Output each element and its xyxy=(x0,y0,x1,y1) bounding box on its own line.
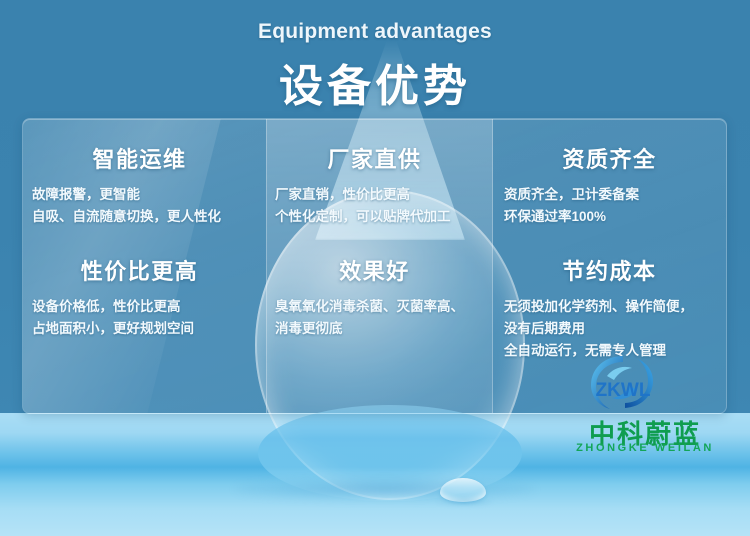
feature-block-cost-saving: 节约成本 无须投加化学药剂、操作简便， 没有后期费用 全自动运行，无需专人管理 xyxy=(492,254,727,362)
company-logo: ZKWL 中科蔚蓝 ZHONGKE WEILAN xyxy=(545,352,745,457)
feature-title: 智能运维 xyxy=(22,142,257,174)
feature-body: 故障报警，更智能 自吸、自流随意切换，更人性化 xyxy=(22,184,257,228)
zkwl-swirl-icon: ZKWL xyxy=(587,352,659,414)
feature-body: 臭氧氧化消毒杀菌、灭菌率高、 消毒更彻底 xyxy=(257,296,492,340)
feature-body: 资质齐全，卫计委备案 环保通过率100% xyxy=(492,184,727,228)
feature-line: 设备价格低，性价比更高 xyxy=(32,296,257,318)
svg-text:ZKWL: ZKWL xyxy=(596,380,651,401)
feature-line: 故障报警，更智能 xyxy=(32,184,257,206)
feature-line: 消毒更彻底 xyxy=(275,318,492,340)
feature-block-good-effect: 效果好 臭氧氧化消毒杀菌、灭菌率高、 消毒更彻底 xyxy=(257,254,492,340)
feature-line: 占地面积小，更好规划空间 xyxy=(32,318,257,340)
feature-line: 自吸、自流随意切换，更人性化 xyxy=(32,206,257,228)
feature-title: 节约成本 xyxy=(492,254,727,286)
poster-canvas: Equipment advantages 设备优势 智能运维 故障报警，更智能 … xyxy=(0,0,750,536)
feature-line: 无须投加化学药剂、操作简便， xyxy=(504,296,727,318)
feature-block-smart-ops: 智能运维 故障报警，更智能 自吸、自流随意切换，更人性化 xyxy=(22,142,257,228)
feature-block-qualifications: 资质齐全 资质齐全，卫计委备案 环保通过率100% xyxy=(492,142,727,228)
logo-pinyin-name: ZHONGKE WEILAN xyxy=(545,442,745,454)
feature-line: 没有后期费用 xyxy=(504,318,727,340)
feature-line: 个性化定制，可以贴牌代加工 xyxy=(275,206,492,228)
feature-title: 厂家直供 xyxy=(257,142,492,174)
small-droplet-shadow xyxy=(437,497,493,506)
feature-block-factory-direct: 厂家直供 厂家直销，性价比更高 个性化定制，可以贴牌代加工 xyxy=(257,142,492,228)
water-drop-shadow xyxy=(235,478,535,500)
header-chinese-title: 设备优势 xyxy=(0,50,750,114)
feature-title: 效果好 xyxy=(257,254,492,286)
feature-body: 设备价格低，性价比更高 占地面积小，更好规划空间 xyxy=(22,296,257,340)
feature-column-2: 厂家直供 厂家直销，性价比更高 个性化定制，可以贴牌代加工 效果好 臭氧氧化消毒… xyxy=(257,118,492,414)
feature-block-cost-performance: 性价比更高 设备价格低，性价比更高 占地面积小，更好规划空间 xyxy=(22,254,257,340)
header-english-title: Equipment advantages xyxy=(0,20,750,44)
feature-title: 资质齐全 xyxy=(492,142,727,174)
feature-line: 厂家直销，性价比更高 xyxy=(275,184,492,206)
feature-line: 资质齐全，卫计委备案 xyxy=(504,184,727,206)
feature-body: 厂家直销，性价比更高 个性化定制，可以贴牌代加工 xyxy=(257,184,492,228)
feature-line: 环保通过率100% xyxy=(504,206,727,228)
feature-title: 性价比更高 xyxy=(22,254,257,286)
feature-line: 臭氧氧化消毒杀菌、灭菌率高、 xyxy=(275,296,492,318)
feature-column-1: 智能运维 故障报警，更智能 自吸、自流随意切换，更人性化 性价比更高 设备价格低… xyxy=(22,118,257,414)
